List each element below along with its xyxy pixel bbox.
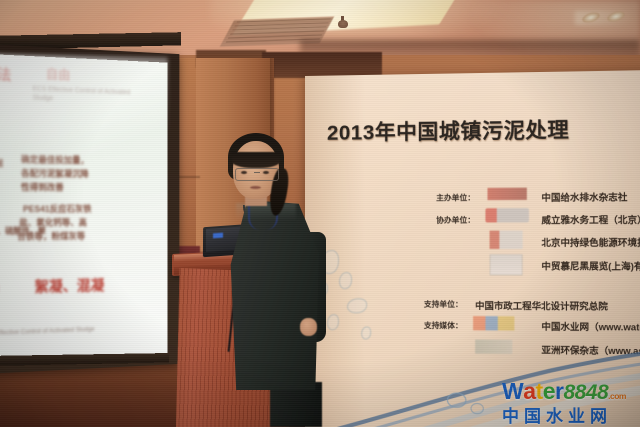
watermark-letter-t: t [536, 378, 543, 405]
watermark-tld: .com [608, 391, 626, 401]
watermark-chinese: 中国水业网 [502, 402, 612, 427]
laptop-screen-highlight [213, 233, 223, 239]
slide-line: 絮凝、混凝 [34, 277, 104, 297]
banner-row-label: 支持单位： [424, 299, 463, 310]
watermark: Water8848.com 中国水业网 [496, 378, 640, 424]
speaker-glasses-bridge [254, 172, 260, 173]
veolia-logo [485, 208, 529, 222]
banner-row-label: 主办单位： [436, 192, 475, 203]
banner-row-text: 北京中持绿色能源环境技 [541, 234, 640, 248]
watermark-letter-e: e [543, 378, 555, 405]
zhongchi-logo [490, 231, 523, 249]
speaker-bangs [232, 152, 280, 168]
speaker-torso [227, 200, 319, 390]
banner-row-text: 威立雅水务工程（北京） [541, 212, 640, 227]
slide-line: 性得到改善 [21, 182, 64, 193]
speaker-hand [300, 318, 317, 336]
slide-footer: ECS Effective Control of Activated Sludg… [0, 326, 94, 338]
projection-screen-glare [0, 54, 168, 184]
mm-shanghai-logo [490, 254, 523, 275]
banner-row-text: 中国给水排水杂志社 [541, 189, 627, 204]
banner-row-label: 协办单位： [436, 214, 475, 225]
banner-title: 2013年中国城镇污泥处理 [327, 111, 640, 146]
watermark-letter-a: a [523, 378, 535, 405]
banner-row-text: 中国市政工程华北设计研究总院 [475, 298, 608, 313]
sprinkler-head [338, 20, 348, 28]
slide-line: PES41反应石灰铁 [23, 204, 92, 215]
watermark-letter-w: W [502, 378, 523, 405]
conference-photo-scene: 方法 自由 ECS Effective Control of Activated… [0, 0, 640, 427]
speaker-mouth [250, 186, 261, 189]
speaker-glasses [235, 168, 279, 181]
banner-row-text: 中贸慕尼黑展览(上海)有限 [541, 258, 640, 273]
event-banner: 2013年中国城镇污泥处理 主办单位： 中国给水排水杂志社 协办单位： 威立雅水… [305, 70, 640, 427]
slide-line: 合铁等，粉煤灰等 [17, 231, 85, 242]
zhongguo-jishui-paishui-logo [487, 188, 526, 200]
watermark-wordmark: Water8848.com [502, 378, 626, 405]
